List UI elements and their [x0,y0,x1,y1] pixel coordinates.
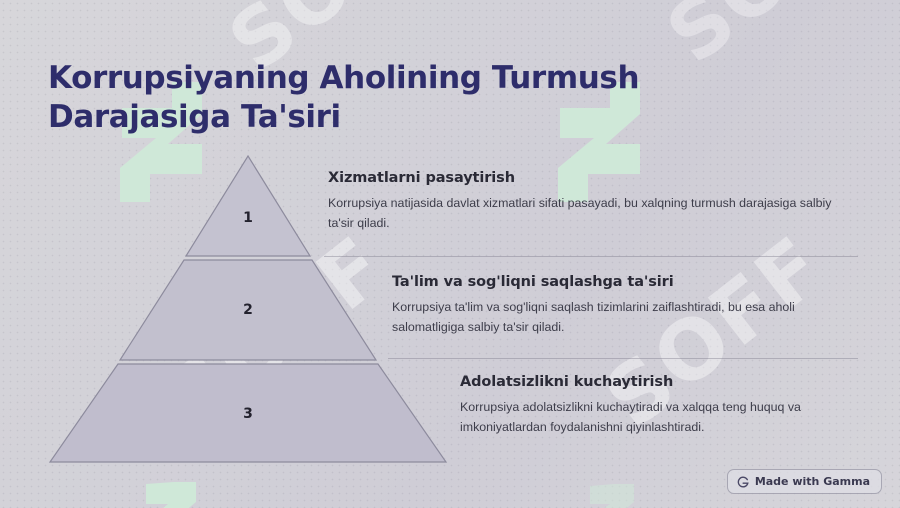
row-divider [388,358,858,359]
page-title: Korrupsiyaning Aholining Turmush Darajas… [48,59,808,138]
item-title: Xizmatlarni pasaytirish [328,170,858,186]
item-description: Korrupsiya ta'lim va sog'liqni saqlash t… [392,297,858,337]
list-item[interactable]: Xizmatlarni pasaytirish Korrupsiya natij… [328,170,858,233]
soff-logo-mark-icon [140,482,204,508]
list-item[interactable]: Adolatsizlikni kuchaytirish Korrupsiya a… [460,374,858,437]
soff-logo-mark-icon [584,484,640,508]
content-list: Xizmatlarni pasaytirish Korrupsiya natij… [0,152,900,472]
made-with-gamma-badge[interactable]: Made with Gamma [727,469,882,494]
slide-canvas: SOFF SOFF SOFF SOFF Korrupsiyaning Aholi… [0,0,900,508]
item-description: Korrupsiya natijasida davlat xizmatlari … [328,193,858,233]
item-title: Ta'lim va sog'liqni saqlashga ta'siri [392,274,858,290]
made-with-gamma-label: Made with Gamma [755,475,870,488]
item-title: Adolatsizlikni kuchaytirish [460,374,858,390]
item-description: Korrupsiya adolatsizlikni kuchaytiradi v… [460,397,858,437]
row-divider [324,256,858,257]
gamma-logo-icon [737,476,749,488]
list-item[interactable]: Ta'lim va sog'liqni saqlashga ta'siri Ko… [392,274,858,337]
